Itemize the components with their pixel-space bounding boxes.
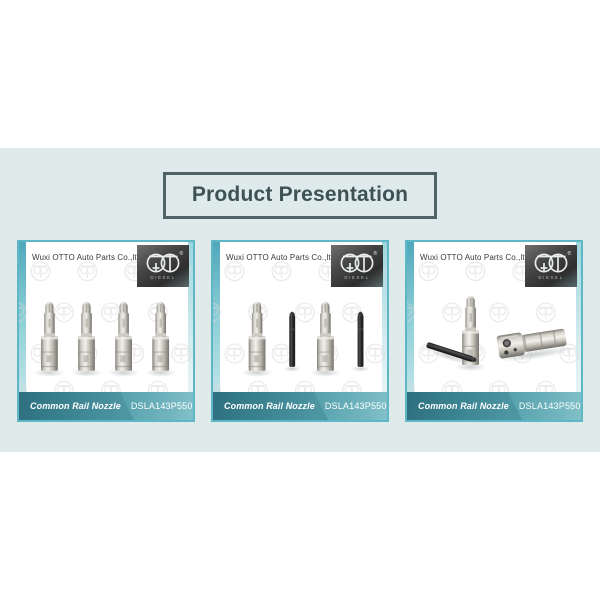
product-caption: Common Rail Nozzle	[19, 401, 121, 411]
card-company-name: Wuxi OTTO Auto Parts Co.,ltd	[226, 253, 335, 262]
brand-logo-icon: ® DIESEL	[525, 245, 577, 287]
svg-text:®: ®	[374, 250, 378, 257]
brand-logo-icon: ® DIESEL	[331, 245, 383, 287]
caption-left-panel: Common Rail Nozzle	[213, 392, 315, 420]
product-caption: Common Rail Nozzle	[407, 401, 509, 411]
svg-text:DIESEL: DIESEL	[150, 275, 175, 280]
product-card[interactable]: Wuxi OTTO Auto Parts Co.,ltd ® DIESEL	[211, 240, 389, 422]
card-company-name: Wuxi OTTO Auto Parts Co.,ltd	[32, 253, 141, 262]
svg-text:®: ®	[180, 250, 184, 257]
page-title-wrapper: Product Presentation	[0, 172, 600, 219]
product-presentation-page: Product Presentation	[0, 0, 600, 600]
product-photo	[414, 288, 576, 390]
svg-text:®: ®	[568, 250, 572, 257]
svg-text:DIESEL: DIESEL	[538, 275, 563, 280]
caption-left-panel: Common Rail Nozzle	[19, 392, 121, 420]
product-card-row: Wuxi OTTO Auto Parts Co.,ltd ® DIESEL	[17, 240, 583, 422]
product-card[interactable]: Wuxi OTTO Auto Parts Co.,ltd ® DIESEL	[17, 240, 195, 422]
svg-text:DIESEL: DIESEL	[344, 275, 369, 280]
card-caption-bar: Common Rail Nozzle DSLA143P5501	[213, 392, 387, 420]
page-title: Product Presentation	[192, 183, 408, 206]
product-photo	[220, 288, 382, 390]
product-caption: Common Rail Nozzle	[213, 401, 315, 411]
product-card[interactable]: Wuxi OTTO Auto Parts Co.,ltd ® DIESEL	[405, 240, 583, 422]
card-caption-bar: Common Rail Nozzle DSLA143P5501	[407, 392, 581, 420]
brand-logo-icon: ® DIESEL	[137, 245, 189, 287]
card-company-name: Wuxi OTTO Auto Parts Co.,ltd	[420, 253, 529, 262]
card-caption-bar: Common Rail Nozzle DSLA143P5501	[19, 392, 193, 420]
product-photo	[26, 288, 188, 390]
caption-left-panel: Common Rail Nozzle	[407, 392, 509, 420]
page-title-box: Product Presentation	[163, 172, 437, 219]
